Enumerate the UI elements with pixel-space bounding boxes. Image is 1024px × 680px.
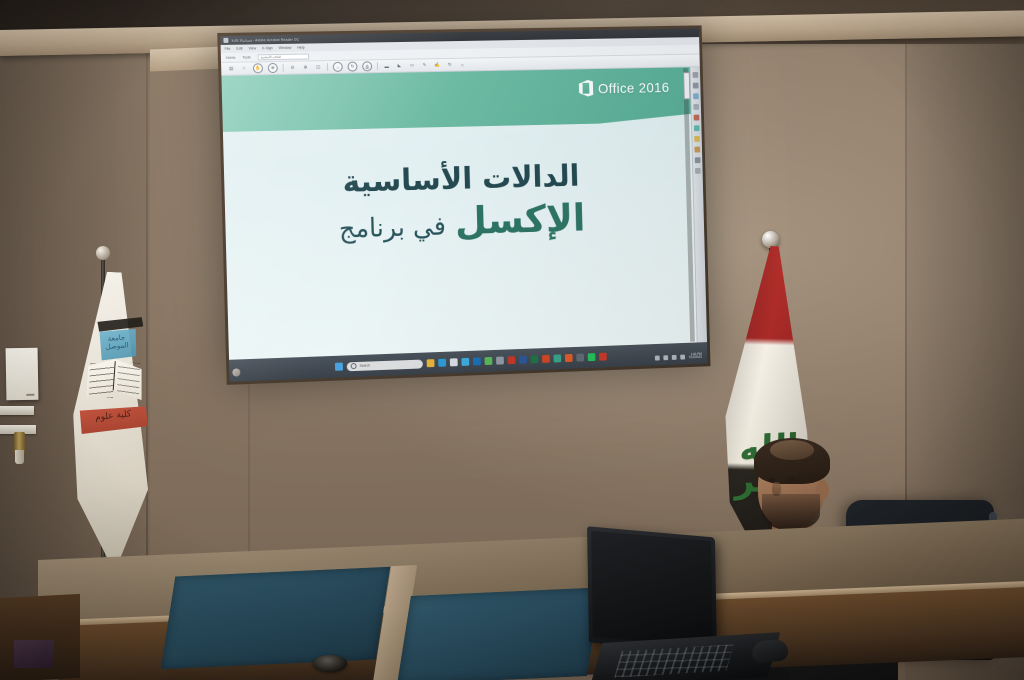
headphones-icon[interactable]: ∩ [458,61,466,69]
zoom-out-icon[interactable]: ⊖ [289,64,297,72]
volume-icon[interactable] [672,355,677,360]
laptop-lid [587,526,717,653]
sticky-note-icon[interactable]: ▭ [408,61,416,69]
menu-item-file[interactable]: File [225,47,231,51]
office-brand-badge: Office 2016 [579,78,670,96]
hand-tool-icon[interactable]: ✋ [253,63,263,73]
page-thumbnails-icon[interactable]: ▤ [227,65,235,73]
person-beard [762,494,820,530]
person-forehead [770,440,814,460]
desk-pad-left [161,567,391,669]
battery-icon[interactable] [680,354,685,359]
export-pdf-icon[interactable] [693,104,699,110]
powerpoint-icon[interactable] [542,355,550,363]
desk-pad-right [397,587,601,680]
zoom-in-icon[interactable]: ⊕ [301,63,309,71]
word-icon[interactable] [519,356,527,364]
toolbar-separator [377,62,378,70]
print-icon[interactable]: ⎙ [362,61,372,71]
more-tools-icon[interactable] [695,168,701,174]
book-text-lines-left [89,363,114,398]
laptop-screen [591,531,713,648]
photos-icon[interactable] [473,357,481,365]
antivirus-icon[interactable] [565,354,573,362]
rotate-icon[interactable]: ↻ [347,62,357,72]
slide-title-accent-word: الإكسل [454,197,585,244]
slide-title-plain-word: في برنامج [339,212,447,245]
open-document-tab[interactable]: الدالات الأساسية [258,53,310,60]
app-icon [223,38,228,43]
protect-icon[interactable] [695,157,701,163]
search-placeholder: Search [359,363,370,367]
projected-desktop: ةيساسالا تالادلا - Adobe Acrobat Reader … [220,28,707,381]
classroom-scene: ةيساسالا تالادلا - Adobe Acrobat Reader … [0,0,1024,680]
magnifier-icon [351,363,357,369]
organize-pages-icon[interactable] [694,136,700,142]
zoom-level-field[interactable]: ◫ [314,63,322,71]
edge-browser-icon[interactable] [438,359,446,367]
menu-item-edit[interactable]: Edit [236,47,242,51]
file-explorer-icon[interactable] [427,359,435,367]
app-titlebar-text: ةيساسالا تالادلا - Adobe Acrobat Reader … [231,37,299,42]
draw-icon[interactable]: ✎ [421,61,429,69]
projection-screen: ةيساسالا تالادلا - Adobe Acrobat Reader … [217,25,710,384]
book-text-lines-right [117,362,140,395]
store-icon[interactable] [461,358,469,366]
clock-date: 7/12/2023 [689,355,702,359]
toolbar-separator [283,64,284,72]
slide-title-block: الدالات الأساسية الإكسل في برنامج [224,156,694,251]
toolbar-separator [327,63,328,71]
system-tray[interactable]: 1:40 PM 7/12/2023 [655,353,702,362]
wall-notice-paper [6,348,39,401]
menu-item-help[interactable]: Help [297,46,304,50]
menu-item-esign[interactable]: E-Sign [262,46,273,50]
laptop[interactable] [588,532,818,680]
edit-pdf-icon[interactable] [693,93,699,99]
menu-item-view[interactable]: View [248,46,256,50]
fit-page-icon[interactable]: ⌂ [333,62,343,72]
signature-icon[interactable]: ✍ [433,61,441,69]
pdf-reader-icon[interactable] [508,356,516,364]
office-logo-icon [579,80,594,97]
windows-start-icon[interactable] [335,363,343,371]
underline-icon[interactable]: ◣ [395,62,403,70]
select-tool-icon[interactable]: ⊕ [268,63,278,73]
tab-home[interactable]: Home [226,55,236,59]
mail-icon[interactable] [450,358,458,366]
chrome-icon[interactable] [485,357,493,365]
acrobat-icon[interactable] [599,353,607,361]
slide-canvas: Office 2016 الدالات الأساسية الإكسل في ب… [221,67,696,360]
settings-icon[interactable] [496,357,504,365]
comment-icon[interactable] [693,72,699,78]
excel-icon[interactable] [531,355,539,363]
whatsapp-icon[interactable] [588,353,596,361]
taskbar-clock[interactable]: 1:40 PM 7/12/2023 [688,353,701,361]
share-icon[interactable]: ↻ [446,61,454,69]
cable-grommet [313,655,347,672]
wall-cable-strip-upper [0,406,34,415]
taskbar-corner-orb [232,368,240,376]
university-flag [59,271,159,574]
combine-files-icon[interactable] [694,125,700,131]
media-player-icon[interactable] [553,354,561,362]
network-icon[interactable] [663,355,668,360]
brass-wall-valve [14,432,25,454]
desk-under-shadow [14,640,54,668]
show-hidden-icons-icon[interactable] [655,355,660,360]
fill-and-sign-icon[interactable] [694,147,700,153]
create-pdf-icon[interactable] [694,115,700,121]
menu-item-window[interactable]: Window [279,46,292,50]
tab-tools[interactable]: Tools [242,55,250,59]
search-input[interactable]: Search [347,359,423,371]
person-eye [788,477,795,481]
office-brand-label: Office 2016 [598,79,670,96]
calculator-icon[interactable] [576,354,584,362]
highlight-icon[interactable]: ▬ [383,62,391,70]
scrollbar-thumb[interactable] [683,72,690,99]
bookmarks-icon[interactable]: ☆ [240,64,248,72]
search-icon[interactable] [693,83,699,89]
flag-pole-finial [96,246,110,260]
